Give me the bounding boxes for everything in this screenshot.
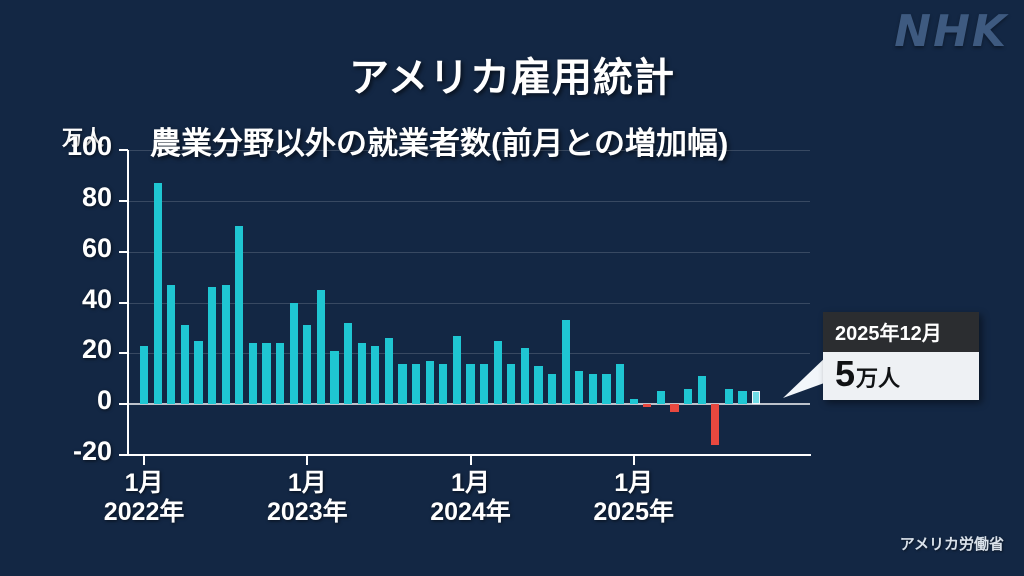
bar (738, 391, 746, 404)
bar (684, 389, 692, 404)
x-axis-tick-label: 1月2024年 (396, 469, 546, 526)
y-axis-tick (119, 200, 128, 202)
x-label-year: 2022年 (69, 498, 219, 527)
bar (711, 404, 719, 445)
bar-highlighted (752, 391, 760, 404)
callout-period-label: 2025年12月 (823, 312, 979, 352)
bar (616, 364, 624, 405)
bar (698, 376, 706, 404)
gridline (128, 353, 810, 354)
bar (453, 336, 461, 405)
bar (330, 351, 338, 404)
callout-unit: 万人 (856, 366, 900, 391)
bar (358, 343, 366, 404)
bar (262, 343, 270, 404)
bar (630, 399, 638, 404)
y-axis-tick-label: 100 (67, 131, 112, 162)
bar (562, 320, 570, 404)
callout-value-box: 5万人 (823, 352, 979, 400)
x-axis-tick (306, 455, 308, 465)
bar (303, 325, 311, 404)
x-axis-tick-label: 1月2025年 (559, 469, 709, 526)
bar (589, 374, 597, 405)
y-axis-tick-label: 60 (82, 233, 112, 264)
bar (276, 343, 284, 404)
y-axis-tick (119, 302, 128, 304)
bar (643, 404, 651, 407)
y-axis-tick-label: -20 (73, 436, 112, 467)
x-label-month: 1月 (559, 469, 709, 498)
x-axis-tick (633, 455, 635, 465)
bar (344, 323, 352, 404)
page-title: アメリカ雇用統計 (0, 45, 1024, 103)
bar (575, 371, 583, 404)
bar (222, 285, 230, 404)
gridline (128, 201, 810, 202)
callout-value: 5 (835, 353, 855, 394)
bar (385, 338, 393, 404)
bar (371, 346, 379, 404)
x-label-month: 1月 (69, 469, 219, 498)
gridline (128, 303, 810, 304)
bar (398, 364, 406, 405)
bar (725, 389, 733, 404)
y-axis-tick (119, 454, 128, 456)
x-axis-tick-label: 1月2023年 (232, 469, 382, 526)
bar (412, 364, 420, 405)
y-axis-tick-label: 0 (97, 385, 112, 416)
chart-container: 100806040200-20 1月2022年1月2023年1月2024年1月2… (128, 150, 810, 455)
bar (235, 226, 243, 404)
x-label-year: 2024年 (396, 498, 546, 527)
x-label-year: 2023年 (232, 498, 382, 527)
bar (507, 364, 515, 405)
y-axis-tick (119, 149, 128, 151)
bar (167, 285, 175, 404)
y-axis-tick-label: 40 (82, 284, 112, 315)
y-axis-tick (119, 352, 128, 354)
bar (534, 366, 542, 404)
x-label-year: 2025年 (559, 498, 709, 527)
bar (494, 341, 502, 405)
x-label-month: 1月 (396, 469, 546, 498)
bar (317, 290, 325, 404)
x-label-month: 1月 (232, 469, 382, 498)
y-axis-tick (119, 403, 128, 405)
bar (602, 374, 610, 405)
y-axis-tick-label: 20 (82, 334, 112, 365)
bar (548, 374, 556, 405)
bar (208, 287, 216, 404)
source-attribution: アメリカ労働省 (900, 533, 1004, 554)
bar (670, 404, 678, 412)
bar (480, 364, 488, 405)
bar (426, 361, 434, 404)
y-axis-tick (119, 251, 128, 253)
bar (290, 303, 298, 405)
x-axis-tick-label: 1月2022年 (69, 469, 219, 526)
bar (249, 343, 257, 404)
bar (466, 364, 474, 405)
bar (194, 341, 202, 405)
x-axis-tick (143, 455, 145, 465)
plot-area (128, 150, 810, 455)
gridline (128, 150, 810, 151)
gridline (128, 252, 810, 253)
data-callout: 2025年12月 5万人 (823, 312, 979, 400)
bar (521, 348, 529, 404)
bar (181, 325, 189, 404)
y-axis-tick-label: 80 (82, 182, 112, 213)
bar (154, 183, 162, 404)
bar (657, 391, 665, 404)
x-axis-tick (470, 455, 472, 465)
bar (439, 364, 447, 405)
bar (140, 346, 148, 404)
